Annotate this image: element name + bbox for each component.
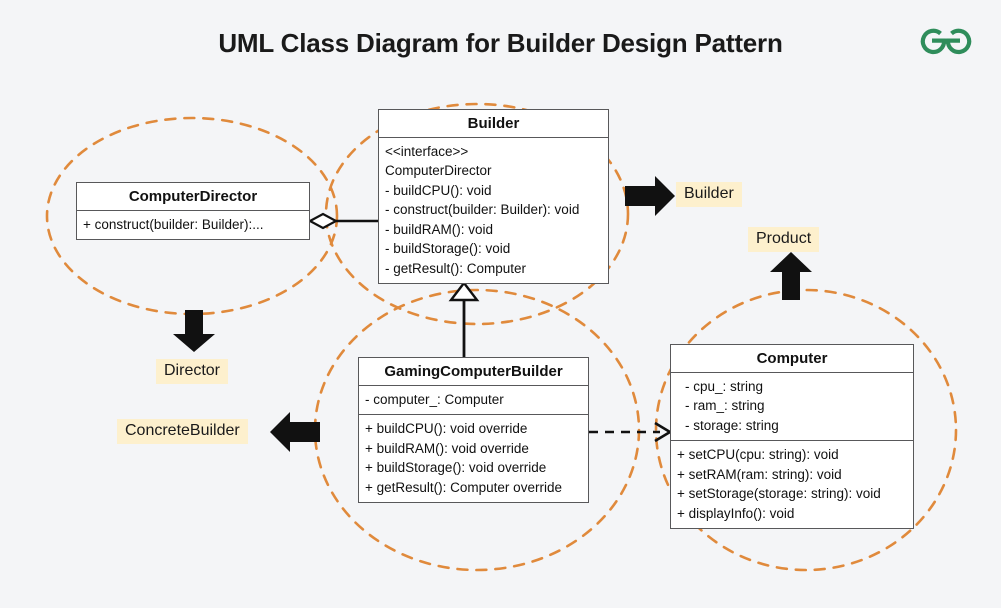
uml-compartment-operations: + construct(builder: Builder):...: [77, 211, 309, 239]
uml-compartment-attributes: - computer_: Computer: [359, 386, 588, 414]
uml-member: + buildStorage(): void override: [365, 458, 582, 477]
uml-member: + displayInfo(): void: [677, 504, 907, 523]
uml-member: + getResult(): Computer override: [365, 478, 582, 497]
uml-member: - ram_: string: [677, 396, 907, 415]
geeksforgeeks-logo: [912, 18, 980, 62]
diagram-canvas: UML Class Diagram for Builder Design Pat…: [0, 0, 1001, 608]
uml-member: + buildRAM(): void override: [365, 439, 582, 458]
relationship-dependency-gamingbuilder-computer: [589, 423, 670, 441]
role-label-builder: Builder: [676, 182, 742, 207]
uml-member: - construct(builder: Builder): void: [385, 200, 602, 219]
role-label-director: Director: [156, 359, 228, 384]
uml-compartment-members: <<interface>> ComputerDirector - buildCP…: [379, 138, 608, 283]
uml-class-computerdirector[interactable]: ComputerDirector + construct(builder: Bu…: [76, 182, 310, 240]
page-title: UML Class Diagram for Builder Design Pat…: [0, 28, 1001, 59]
uml-member: + buildCPU(): void override: [365, 419, 582, 438]
uml-class-name: ComputerDirector: [77, 183, 309, 211]
uml-class-gamingcomputerbuilder[interactable]: GamingComputerBuilder - computer_: Compu…: [358, 357, 589, 503]
uml-compartment-operations: + buildCPU(): void override + buildRAM()…: [359, 414, 588, 502]
uml-stereotype: <<interface>>: [385, 142, 602, 161]
uml-class-name: Computer: [671, 345, 913, 373]
uml-member: - computer_: Computer: [365, 390, 582, 409]
right-arrow-icon: [625, 176, 675, 216]
uml-member: - buildRAM(): void: [385, 220, 602, 239]
left-arrow-icon: [270, 412, 320, 452]
uml-class-name: Builder: [379, 110, 608, 138]
relationship-realization-gamingbuilder-builder: [451, 283, 477, 357]
uml-member: - buildCPU(): void: [385, 181, 602, 200]
uml-member: - getResult(): Computer: [385, 259, 602, 278]
down-arrow-icon: [173, 310, 215, 352]
relationship-aggregation-director-builder: [310, 214, 378, 228]
uml-compartment-operations: + setCPU(cpu: string): void + setRAM(ram…: [671, 440, 913, 528]
uml-member: - storage: string: [677, 416, 907, 435]
uml-class-computer[interactable]: Computer - cpu_: string - ram_: string -…: [670, 344, 914, 529]
uml-class-builder[interactable]: Builder <<interface>> ComputerDirector -…: [378, 109, 609, 284]
hollow-triangle-marker: [451, 283, 477, 300]
role-label-product: Product: [748, 227, 819, 252]
hollow-diamond-marker: [310, 214, 336, 228]
uml-member: + setStorage(storage: string): void: [677, 484, 907, 503]
role-label-concretebuilder: ConcreteBuilder: [117, 419, 248, 444]
uml-member: - cpu_: string: [677, 377, 907, 396]
uml-compartment-attributes: - cpu_: string - ram_: string - storage:…: [671, 373, 913, 440]
uml-member: ComputerDirector: [385, 161, 602, 180]
uml-member: + construct(builder: Builder):...: [83, 215, 303, 234]
up-arrow-icon: [770, 252, 812, 300]
uml-member: + setRAM(ram: string): void: [677, 465, 907, 484]
uml-class-name: GamingComputerBuilder: [359, 358, 588, 386]
uml-member: + setCPU(cpu: string): void: [677, 445, 907, 464]
open-arrow-marker: [655, 423, 670, 441]
uml-member: - buildStorage(): void: [385, 239, 602, 258]
